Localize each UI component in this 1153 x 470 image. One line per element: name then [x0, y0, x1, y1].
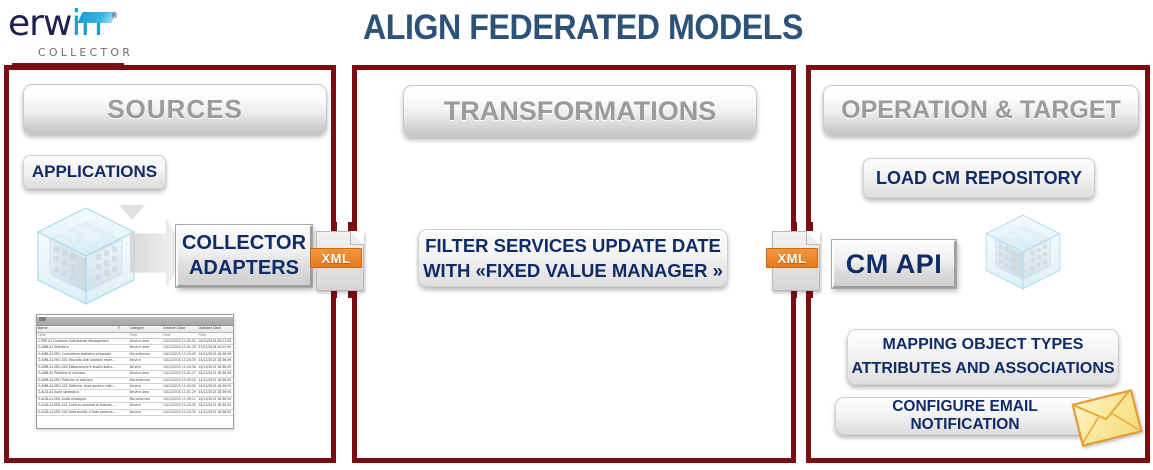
filter-line2: WITH «FIXED VALUE MANAGER »: [423, 258, 723, 283]
xml-file-icon-right: XML: [772, 231, 820, 291]
panel-header-sources: SOURCES: [23, 84, 327, 134]
data-cube-icon-target: [980, 206, 1066, 298]
panel-header-operation-target: OPERATION & TARGET: [823, 85, 1139, 135]
box-configure-email-notification[interactable]: CONFIGURE EMAIL NOTIFICATION: [835, 397, 1095, 435]
services-table: Name F. Category Creation Date Updated D…: [37, 326, 233, 416]
data-cube-icon-sources: [30, 200, 142, 312]
table-cell: [117, 409, 128, 415]
box-load-cm-repository[interactable]: LOAD CM REPOSITORY: [863, 158, 1095, 198]
panel-header-transformations: TRANSFORMATIONS: [403, 85, 757, 137]
xml-file-icon-left: XML: [316, 231, 364, 291]
xml-fold-edge: [350, 231, 364, 245]
logo-trademark: ®: [112, 13, 117, 20]
mapping-line2: ATTRIBUTES AND ASSOCIATIONS: [851, 357, 1114, 381]
services-table-screenshot[interactable]: Name F. Category Creation Date Updated D…: [36, 314, 234, 429]
table-cell: G.AUD.A1.M01.S02 Data quality e Data gov…: [37, 409, 117, 415]
xml-label: XML: [766, 248, 818, 268]
table-cell: 14/12/2015 18:36:50: [198, 409, 234, 415]
box-applications[interactable]: APPLICATIONS: [23, 155, 166, 189]
xml-label: XML: [310, 248, 362, 268]
cube-svg: [30, 200, 142, 312]
table-body: FilterFilterFilterFilterC.PRE.A1 Custome…: [37, 332, 233, 415]
box-collector-adapters[interactable]: COLLECTOR ADAPTERS: [176, 225, 312, 287]
logo-word-prefix: erw: [8, 3, 71, 44]
table-cell: 14/12/2015 11:24:35: [162, 409, 197, 415]
logo-word-suffix: in: [71, 3, 102, 44]
collector-adapters-line2: ADAPTERS: [189, 256, 299, 281]
box-filter-services[interactable]: FILTER SERVICES UPDATE DATE WITH «FIXED …: [418, 229, 728, 287]
box-cm-api[interactable]: CM API: [832, 240, 956, 288]
table-row[interactable]: G.AUD.A1.M01.S02 Data quality e Data gov…: [37, 409, 233, 415]
filter-line1: FILTER SERVICES UPDATE DATE: [425, 233, 721, 258]
logo-swoosh-icon: [78, 12, 117, 23]
table-cell: Service: [128, 409, 162, 415]
erwin-collector-logo: erwin ® COLLECTOR: [8, 6, 126, 60]
cube-svg-right: [980, 206, 1066, 298]
page-title: ALIGN FEDERATED MODELS: [353, 8, 813, 48]
xml-fold-edge: [806, 231, 820, 245]
box-mapping-object-types[interactable]: MAPPING OBJECT TYPES ATTRIBUTES AND ASSO…: [847, 329, 1119, 385]
table-toolbar: [37, 317, 233, 326]
collector-adapters-line1: COLLECTOR: [182, 231, 306, 256]
logo-subtitle: COLLECTOR: [38, 46, 133, 59]
diagram-root: erwin ® COLLECTOR ALIGN FEDERATED MODELS…: [0, 0, 1153, 470]
mapping-line1: MAPPING OBJECT TYPES: [883, 333, 1084, 357]
